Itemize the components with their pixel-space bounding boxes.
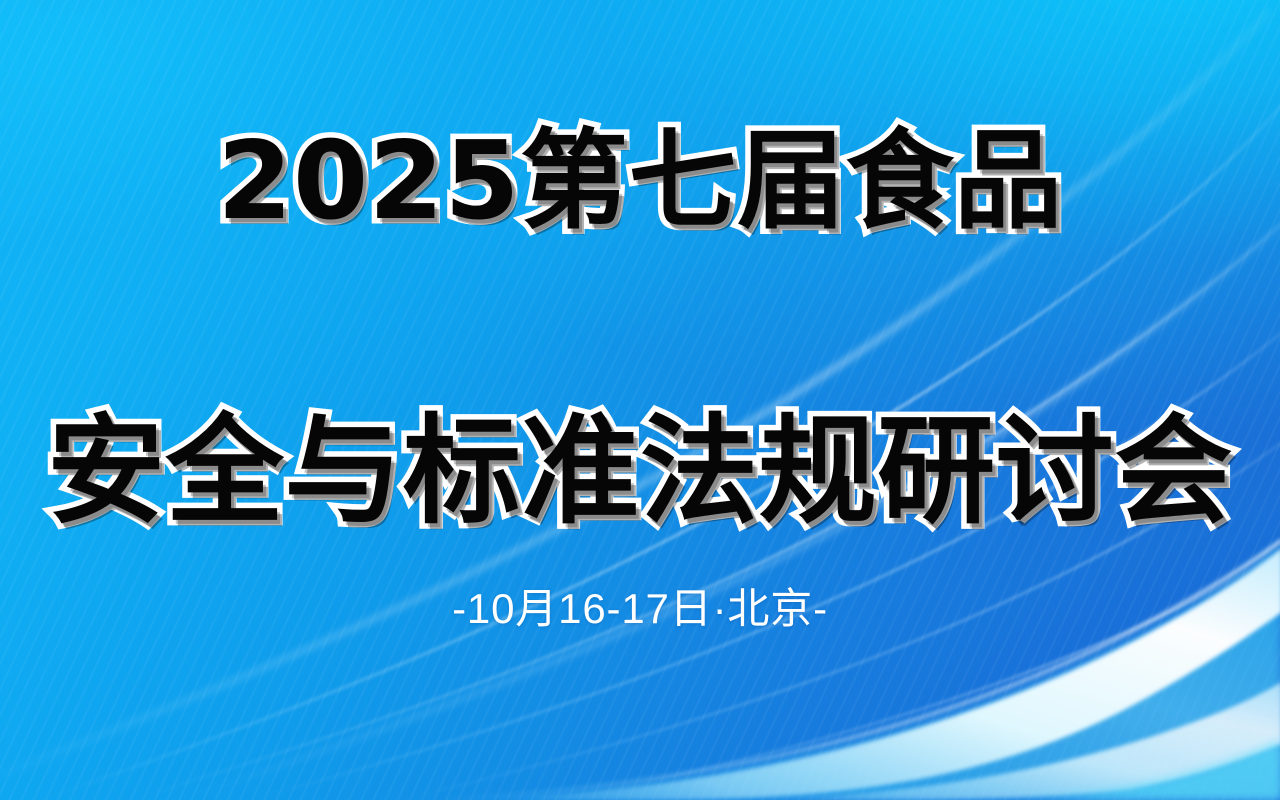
headline-line-1: 2025第七届食品 xyxy=(217,128,1062,236)
headline-line-2: 安全与标准法规研讨会 xyxy=(47,412,1233,530)
event-poster: 2025第七届食品 安全与标准法规研讨会 -10月16-17日·北京- xyxy=(0,0,1280,800)
poster-content: 2025第七届食品 安全与标准法规研讨会 -10月16-17日·北京- xyxy=(0,0,1280,800)
event-date-location: -10月16-17日·北京- xyxy=(452,588,828,630)
